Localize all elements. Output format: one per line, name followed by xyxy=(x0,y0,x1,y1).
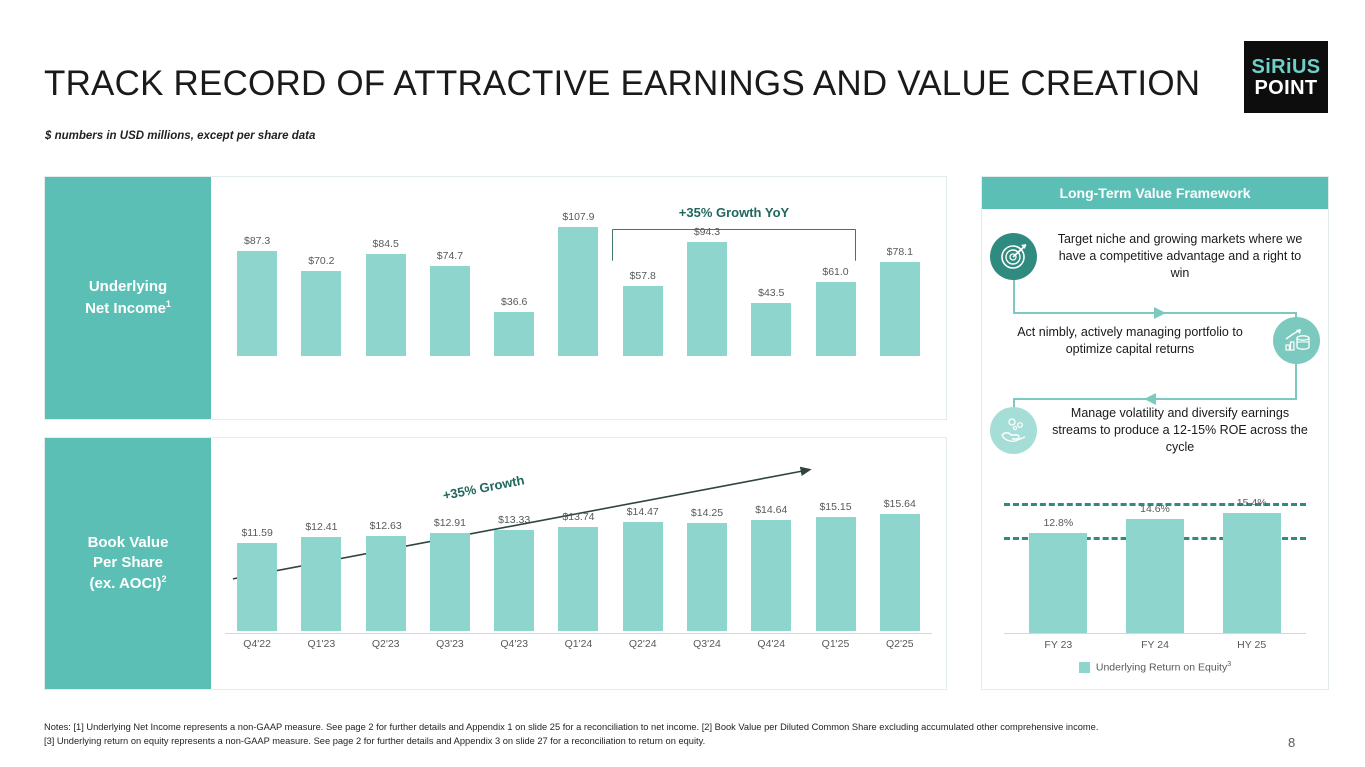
footnote-marker-1: 1 xyxy=(166,299,171,309)
underlying-net-income-chart: $87.3$70.2$84.5$74.7$36.6$107.9$57.8$94.… xyxy=(211,177,946,419)
hand-coins-icon xyxy=(990,407,1037,454)
bar-value-label: $14.25 xyxy=(691,507,723,519)
bar-column: $107.9 xyxy=(546,211,610,356)
bar-column: $14.47 xyxy=(611,498,675,631)
framework-header: Long-Term Value Framework xyxy=(982,177,1328,209)
bar-column: $12.91 xyxy=(418,498,482,631)
bar-column: $12.41 xyxy=(289,498,353,631)
roe-legend-label: Underlying Return on Equity xyxy=(1096,662,1227,674)
target-icon xyxy=(990,233,1037,280)
bar xyxy=(366,536,406,631)
bvps-category-labels: Q4'22Q1'23Q2'23Q3'23Q4'23Q1'24Q2'24Q3'24… xyxy=(225,638,932,650)
underlying-roe-chart: 12.8%14.6%15.4% FY 23FY 24HY 25 Underlyi… xyxy=(982,475,1328,685)
underlying-net-income-label: Underlying Net Income1 xyxy=(45,177,211,419)
bar xyxy=(816,282,856,356)
bar-value-label: $87.3 xyxy=(244,235,270,247)
bar-value-label: $74.7 xyxy=(437,250,463,262)
book-value-per-share-chart: +35% Growth $11.59$12.41$12.63$12.91$13.… xyxy=(211,438,946,689)
footnotes: Notes: [1] Underlying Net Income represe… xyxy=(44,721,1254,749)
bar xyxy=(623,286,663,356)
bar-column: $43.5 xyxy=(739,211,803,356)
long-term-value-framework-panel: Long-Term Value Framework Target niche a… xyxy=(981,176,1329,690)
bar-column: $15.64 xyxy=(868,498,932,631)
category-label: Q2'25 xyxy=(868,638,932,650)
bvps-label-line2: Per Share xyxy=(93,554,163,571)
bar-value-label: $43.5 xyxy=(758,287,784,299)
category-label: Q4'24 xyxy=(739,638,803,650)
bar xyxy=(494,312,534,356)
bar-value-label: $15.64 xyxy=(884,498,916,510)
bar-value-label: $84.5 xyxy=(373,238,399,250)
bar-value-label: $61.0 xyxy=(822,266,848,278)
bar xyxy=(880,262,920,356)
bar xyxy=(751,520,791,631)
category-label: Q4'22 xyxy=(225,638,289,650)
bvps-bars: $11.59$12.41$12.63$12.91$13.33$13.74$14.… xyxy=(225,498,932,631)
bar xyxy=(687,242,727,356)
bar-value-label: $70.2 xyxy=(308,255,334,267)
roe-bars: 12.8%14.6%15.4% xyxy=(1010,489,1300,633)
bar-value-label: $14.47 xyxy=(627,506,659,518)
book-value-per-share-panel: Book Value Per Share (ex. AOCI)2 +35% Gr… xyxy=(44,437,947,690)
bar-value-label: 14.6% xyxy=(1140,503,1170,515)
bar xyxy=(558,527,598,631)
units-note: $ numbers in USD millions, except per sh… xyxy=(45,130,315,142)
bar-value-label: $78.1 xyxy=(887,246,913,258)
page-title: TRACK RECORD OF ATTRACTIVE EARNINGS AND … xyxy=(44,64,1200,104)
underlying-bars: $87.3$70.2$84.5$74.7$36.6$107.9$57.8$94.… xyxy=(225,211,932,356)
bar-value-label: $12.41 xyxy=(305,521,337,533)
category-label: Q4'23 xyxy=(482,638,546,650)
category-label: Q2'23 xyxy=(354,638,418,650)
bar-column: $13.74 xyxy=(546,498,610,631)
bar xyxy=(237,251,277,356)
bvps-axis-line xyxy=(225,633,932,634)
footnote-line-1: Notes: [1] Underlying Net Income represe… xyxy=(44,721,1254,735)
bar xyxy=(687,523,727,631)
roe-axis-line xyxy=(1004,633,1306,634)
bvps-label-line1: Book Value xyxy=(88,534,169,551)
bar-value-label: $12.91 xyxy=(434,517,466,529)
category-label: Q1'25 xyxy=(803,638,867,650)
bar xyxy=(430,266,470,356)
category-label: Q3'23 xyxy=(418,638,482,650)
bar-value-label: $14.64 xyxy=(755,504,787,516)
framework-item-1-text: Target niche and growing markets where w… xyxy=(1049,231,1311,282)
category-label: Q3'24 xyxy=(675,638,739,650)
book-value-per-share-label: Book Value Per Share (ex. AOCI)2 xyxy=(45,438,211,689)
bar-column: 14.6% xyxy=(1107,489,1204,633)
framework-item-growth: Act nimbly, actively managing portfolio … xyxy=(990,317,1320,364)
bar xyxy=(430,533,470,631)
bar-value-label: $15.15 xyxy=(819,501,851,513)
bar-column: $70.2 xyxy=(289,211,353,356)
bar xyxy=(816,517,856,631)
roe-category-labels: FY 23FY 24HY 25 xyxy=(1010,639,1300,651)
bar-column: $14.64 xyxy=(739,498,803,631)
growth-coins-icon xyxy=(1273,317,1320,364)
bar-column: $94.3 xyxy=(675,211,739,356)
bar xyxy=(237,543,277,631)
bar-value-label: 12.8% xyxy=(1043,517,1073,529)
roe-legend-swatch xyxy=(1079,662,1090,673)
bar-column: $78.1 xyxy=(868,211,932,356)
bar xyxy=(623,522,663,631)
bar xyxy=(751,303,791,356)
footnote-marker-3: 3 xyxy=(1227,661,1231,668)
bar-value-label: $57.8 xyxy=(630,270,656,282)
underlying-net-income-panel: Underlying Net Income1 $87.3$70.2$84.5$7… xyxy=(44,176,947,420)
bar-value-label: $94.3 xyxy=(694,226,720,238)
framework-item-2-text: Act nimbly, actively managing portfolio … xyxy=(999,324,1261,358)
bar-column: 12.8% xyxy=(1010,489,1107,633)
bar xyxy=(558,227,598,356)
category-label: Q1'24 xyxy=(546,638,610,650)
underlying-label-line2: Net Income xyxy=(85,300,166,317)
category-label: FY 23 xyxy=(1010,639,1107,651)
bar-value-label: $12.63 xyxy=(370,520,402,532)
bar-column: $36.6 xyxy=(482,211,546,356)
bvps-label-line3: (ex. AOCI) xyxy=(90,575,162,592)
category-label: HY 25 xyxy=(1203,639,1300,651)
bar xyxy=(366,254,406,356)
bar-column: $13.33 xyxy=(482,498,546,631)
bar-value-label: $107.9 xyxy=(562,211,594,223)
category-label: Q2'24 xyxy=(611,638,675,650)
footnote-marker-2: 2 xyxy=(161,574,166,584)
bar-value-label: $11.59 xyxy=(241,527,272,539)
bar xyxy=(1223,513,1281,633)
siriuspoint-logo: SiRiUS POINT xyxy=(1244,41,1328,113)
bar xyxy=(1029,533,1087,633)
framework-item-target: Target niche and growing markets where w… xyxy=(990,231,1320,282)
bar-value-label: $13.33 xyxy=(498,514,530,526)
bar-column: $12.63 xyxy=(354,498,418,631)
category-label: Q1'23 xyxy=(289,638,353,650)
bar-column: $61.0 xyxy=(803,211,867,356)
framework-item-volatility: Manage volatility and diversify earnings… xyxy=(990,405,1320,456)
category-label: FY 24 xyxy=(1107,639,1204,651)
bar-value-label: $36.6 xyxy=(501,296,527,308)
footnote-line-2: [3] Underlying return on equity represen… xyxy=(44,735,1254,749)
bar-column: $74.7 xyxy=(418,211,482,356)
framework-flow: Target niche and growing markets where w… xyxy=(982,209,1328,471)
logo-line-2: POINT xyxy=(1254,78,1317,98)
bar-column: $11.59 xyxy=(225,498,289,631)
page-number: 8 xyxy=(1288,735,1295,750)
bar xyxy=(1126,519,1184,633)
roe-legend: Underlying Return on Equity3 xyxy=(982,661,1328,674)
bar-column: $84.5 xyxy=(354,211,418,356)
bar xyxy=(301,537,341,631)
bar xyxy=(494,530,534,631)
bar xyxy=(880,514,920,631)
underlying-label-line1: Underlying xyxy=(89,278,167,295)
framework-item-3-text: Manage volatility and diversify earnings… xyxy=(1049,405,1311,456)
bar-column: $87.3 xyxy=(225,211,289,356)
bar-value-label: $13.74 xyxy=(562,511,594,523)
bar-column: 15.4% xyxy=(1203,489,1300,633)
logo-line-1: SiRiUS xyxy=(1251,57,1320,77)
bar-column: $15.15 xyxy=(803,498,867,631)
bar-column: $14.25 xyxy=(675,498,739,631)
bar xyxy=(301,271,341,356)
bar-column: $57.8 xyxy=(611,211,675,356)
bar-value-label: 15.4% xyxy=(1237,497,1267,509)
